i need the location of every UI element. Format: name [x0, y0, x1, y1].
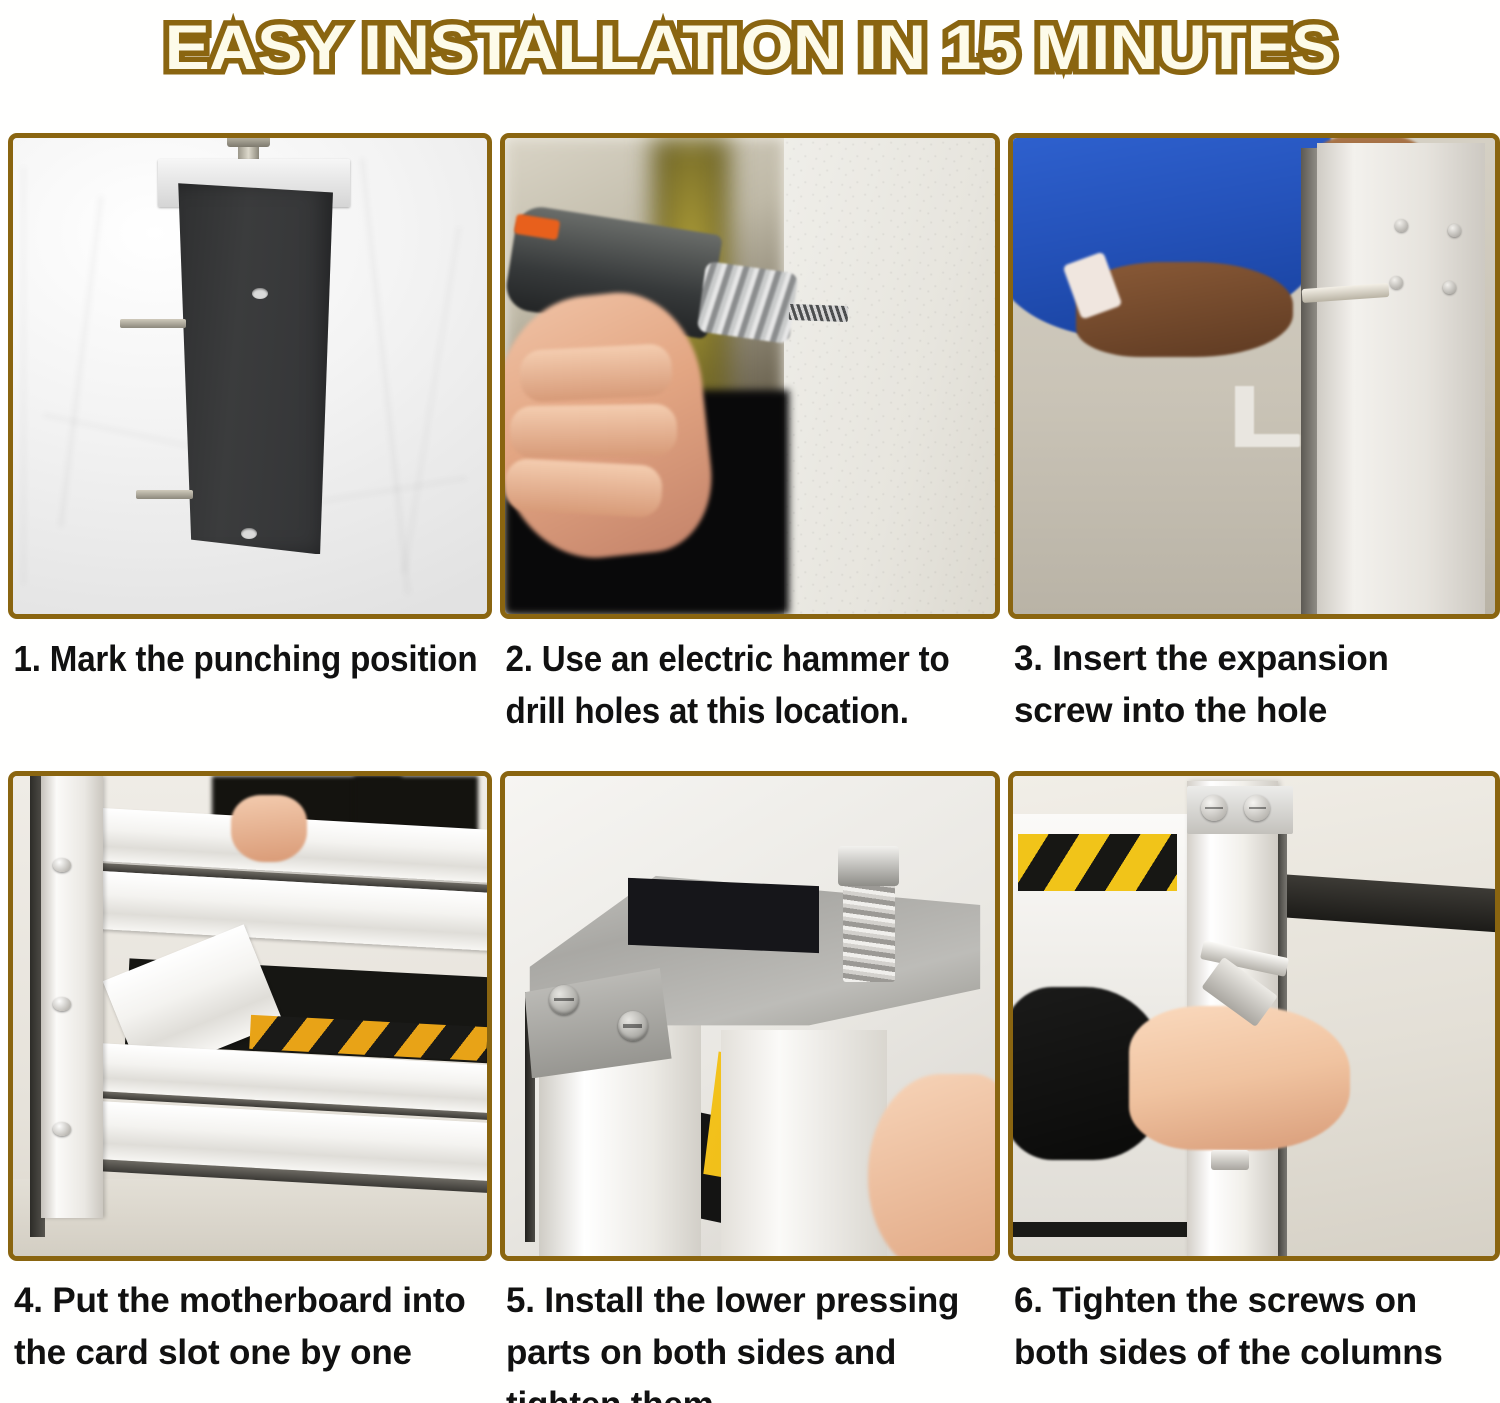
step-3-photo-content: [1013, 138, 1495, 614]
step-3-photo-insert-expansion-screw: [1008, 133, 1500, 619]
drill-bit: [789, 304, 848, 322]
page-title-banner: EASY INSTALLATION IN 15 MINUTES: [0, 0, 1500, 95]
column-screw-b: [1448, 224, 1461, 237]
column-body: [172, 183, 333, 554]
side-bolt-lower: [136, 490, 193, 499]
pressing-bolt-head: [838, 846, 899, 887]
post-screw-2: [53, 997, 71, 1011]
step-1-photo-content: [13, 138, 487, 614]
step-4-photo-content: [13, 776, 487, 1256]
bracket-screw-2: [618, 1011, 648, 1041]
step-4-photo-insert-boards: [8, 771, 492, 1261]
post-screw-3: [53, 1122, 71, 1136]
step-5-photo-lower-pressing-parts: [500, 771, 1000, 1261]
bracket-screw-1: [549, 985, 579, 1015]
hand: [1129, 1006, 1351, 1150]
side-bolt-upper: [120, 319, 186, 328]
installation-guide-page: EASY INSTALLATION IN 15 MINUTES: [0, 0, 1500, 1403]
column-screw-left: [1201, 795, 1227, 821]
step-5-photo-content: [505, 776, 995, 1256]
hand: [231, 795, 307, 862]
mark-hole-lower: [241, 528, 257, 539]
step-2-caption: 2. Use an electric hammer to drill holes…: [500, 619, 997, 771]
column-post: [41, 776, 103, 1218]
step-6-photo-content: [1013, 776, 1495, 1256]
post-screw-1: [53, 858, 71, 872]
step-3-caption: 3. Insert the expansion screw into the h…: [1008, 619, 1500, 771]
lower-screw: [1211, 1150, 1250, 1169]
hazard-stripe: [1018, 834, 1177, 892]
page-title: EASY INSTALLATION IN 15 MINUTES: [165, 14, 1336, 82]
step-1-photo-mark-punching-position: [8, 133, 492, 619]
step-2-photo-content: [505, 138, 995, 614]
steps-grid: 1. Mark the punching position 2. Use an …: [8, 133, 1492, 1398]
step-1-caption: 1. Mark the punching position: [8, 619, 489, 771]
wall-surface: [784, 138, 995, 614]
barrier-board-right: [721, 1030, 888, 1256]
allen-key-icon: [1235, 386, 1254, 448]
step-5-caption: 5. Install the lower pressing parts on b…: [500, 1261, 1000, 1398]
bracket-slot: [628, 877, 819, 953]
step-6-caption: 6. Tighten the screws on both sides of t…: [1008, 1261, 1500, 1398]
drill-chuck: [696, 260, 798, 344]
step-2-photo-drill-holes: [500, 133, 1000, 619]
step-6-photo-tighten-screws: [1008, 771, 1500, 1261]
white-column: [1317, 143, 1486, 614]
step-4-caption: 4. Put the motherboard into the card slo…: [8, 1261, 492, 1398]
